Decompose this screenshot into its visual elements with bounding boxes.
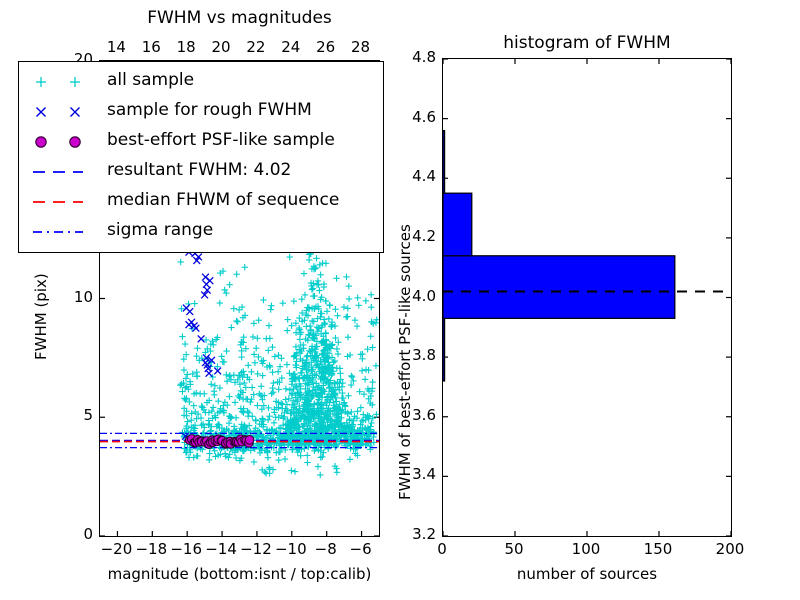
- left-xtick-top-7: 28: [339, 38, 383, 56]
- right-xtick-4: 200: [705, 540, 755, 558]
- left-ytick-1: 5: [53, 406, 93, 424]
- left-ytick-0: 0: [53, 525, 93, 543]
- right-plot-title: histogram of FWHM: [442, 33, 732, 53]
- right-xtick-0: 0: [417, 540, 467, 558]
- right-plot-frame: [442, 58, 732, 537]
- left-plot-title: FWHM vs magnitudes: [99, 8, 380, 28]
- legend-label-4: median FHWM of sequence: [107, 190, 339, 210]
- right-ytick-8: 4.8: [394, 48, 436, 66]
- right-xaxis-title: number of sources: [442, 565, 732, 583]
- left-ytick-2: 10: [53, 288, 93, 306]
- right-xtick-3: 150: [633, 540, 683, 558]
- left-xaxis-title: magnitude (bottom:isnt / top:calib): [99, 565, 380, 583]
- right-xtick-2: 100: [561, 540, 611, 558]
- legend-label-1: sample for rough FWHM: [107, 100, 312, 120]
- histogram-bars: [443, 131, 675, 381]
- right-ytick-7: 4.6: [394, 108, 436, 126]
- right-ytick-6: 4.4: [394, 167, 436, 185]
- legend-label-3: resultant FWHM: 4.02: [107, 160, 291, 180]
- legend-label-0: all sample: [107, 70, 194, 90]
- right-yaxis-title: FWHM of best-effort PSF-like sources: [396, 224, 414, 500]
- figure-canvas: FWHM vs magnitudes 1416182022242628 −20−…: [0, 0, 800, 600]
- legend-label-5: sigma range: [107, 220, 213, 240]
- left-xtick-bottom-7: −6: [339, 540, 383, 558]
- histogram-plot-area: [443, 59, 731, 536]
- right-xtick-1: 50: [489, 540, 539, 558]
- legend-box: all samplesample for rough FWHMbest-effo…: [18, 61, 384, 253]
- left-yaxis-title: FWHM (pix): [32, 273, 50, 360]
- legend-label-2: best-effort PSF-like sample: [107, 130, 335, 150]
